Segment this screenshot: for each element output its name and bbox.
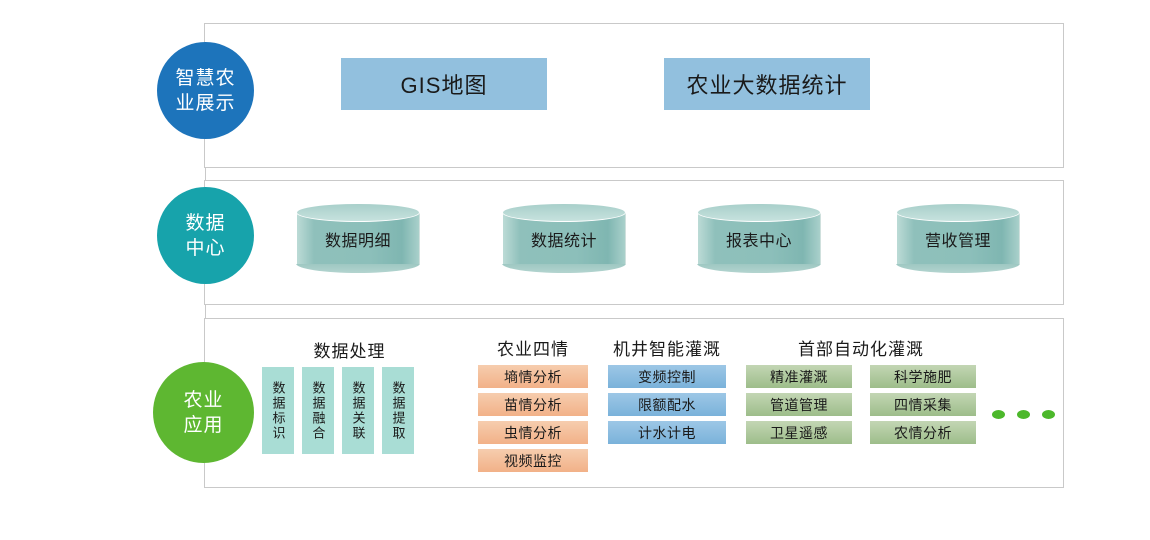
cylinder-top-ellipse [296,203,420,222]
group-title-four-conditions: 农业四情 [478,335,588,360]
chip-label: 数据融合 [312,381,325,441]
chip-water-power-metering[interactable]: 计水计电 [608,421,726,444]
group-title-well-smart-irrigation: 机井智能灌溉 [608,335,726,360]
cylinder-label: 报表中心 [697,223,821,255]
chip-pest-analysis[interactable]: 虫情分析 [478,421,588,444]
cylinder-revenue-management[interactable]: 营收管理 [896,203,1020,273]
ellipsis-dot [1017,410,1030,419]
chip-pipeline-management[interactable]: 管道管理 [746,393,852,416]
chip-four-conditions-collection[interactable]: 四情采集 [870,393,976,416]
cylinder-label: 营收管理 [896,223,1020,255]
cylinder-data-statistics[interactable]: 数据统计 [502,203,626,273]
chip-data-fusion[interactable]: 数据融合 [302,367,334,454]
chip-satellite-remote-sensing[interactable]: 卫星遥感 [746,421,852,444]
display-box-gis-map[interactable]: GIS地图 [341,58,547,110]
chip-label: 数据关联 [352,381,365,441]
layer-circle-apps-line1: 农业 [183,388,223,413]
ellipsis-dot [992,410,1005,419]
chip-quota-water-allocation[interactable]: 限额配水 [608,393,726,416]
layer-circle-apps-line2: 应用 [183,413,223,438]
group-title-data-processing: 数据处理 [262,337,437,362]
cylinder-top-ellipse [502,203,626,222]
four-conditions-stack: 墒情分析 苗情分析 虫情分析 视频监控 [478,365,588,472]
ellipsis-dot [1042,410,1055,419]
data-processing-chip-row: 数据标识 数据融合 数据关联 数据提取 [262,367,414,454]
layer-circle-display-line1: 智慧农 [175,66,235,91]
diagram-canvas: 智慧农 业展示 GIS地图 农业大数据统计 数据 中心 数据明细 数据统计 报表… [0,0,1150,540]
cylinder-data-detail[interactable]: 数据明细 [296,203,420,273]
head-irrigation-grid: 精准灌溉 科学施肥 管道管理 四情采集 卫星遥感 农情分析 [746,365,976,444]
ellipsis-dots-icon [992,410,1055,419]
chip-agricultural-analysis[interactable]: 农情分析 [870,421,976,444]
chip-data-association[interactable]: 数据关联 [342,367,374,454]
cylinder-label: 数据明细 [296,223,420,255]
well-irrigation-stack: 变频控制 限额配水 计水计电 [608,365,726,444]
cylinder-report-center[interactable]: 报表中心 [697,203,821,273]
cylinder-label: 数据统计 [502,223,626,255]
chip-precision-irrigation[interactable]: 精准灌溉 [746,365,852,388]
group-title-head-automatic-irrigation: 首部自动化灌溉 [746,335,976,360]
chip-label: 数据标识 [272,381,285,441]
chip-label: 数据提取 [392,381,405,441]
chip-seedling-analysis[interactable]: 苗情分析 [478,393,588,416]
chip-soil-moisture-analysis[interactable]: 墒情分析 [478,365,588,388]
cylinder-top-ellipse [697,203,821,222]
layer-circle-display-line2: 业展示 [175,91,235,116]
cylinder-top-ellipse [896,203,1020,222]
layer-circle-datacenter-line2: 中心 [185,236,225,261]
chip-scientific-fertilization[interactable]: 科学施肥 [870,365,976,388]
panel-display-layer [204,23,1064,168]
layer-circle-applications[interactable]: 农业 应用 [153,362,254,463]
display-box-agri-bigdata-stats[interactable]: 农业大数据统计 [664,58,870,110]
layer-circle-datacenter-line1: 数据 [185,211,225,236]
chip-data-extraction[interactable]: 数据提取 [382,367,414,454]
chip-video-monitoring[interactable]: 视频监控 [478,449,588,472]
chip-frequency-control[interactable]: 变频控制 [608,365,726,388]
chip-data-identification[interactable]: 数据标识 [262,367,294,454]
layer-circle-display[interactable]: 智慧农 业展示 [157,42,254,139]
layer-circle-data-center[interactable]: 数据 中心 [157,187,254,284]
